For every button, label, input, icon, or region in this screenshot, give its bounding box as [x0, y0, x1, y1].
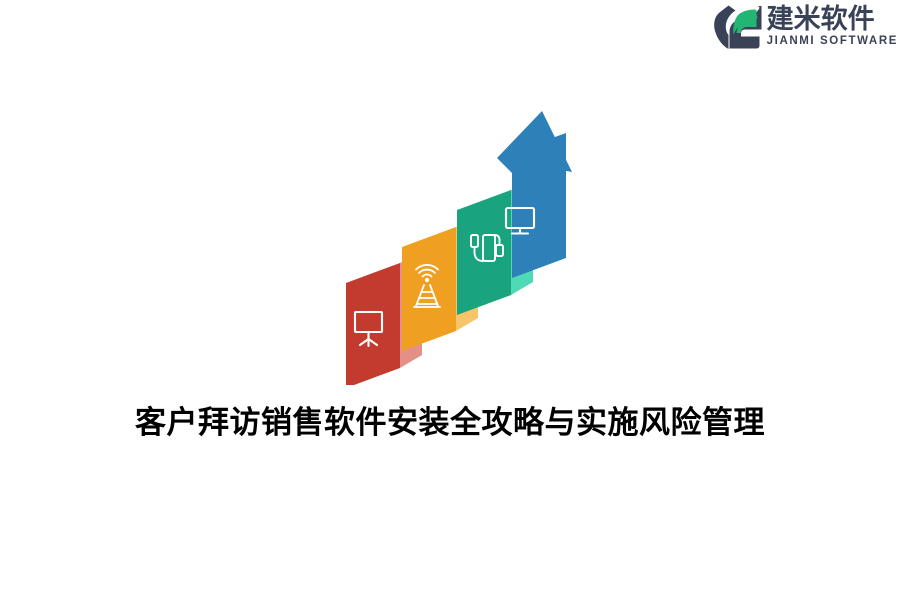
page-title: 客户拜访销售软件安装全攻略与实施风险管理: [0, 400, 900, 446]
page-root: 建米软件 JIANMI SOFTWARE: [0, 0, 900, 600]
brand-text-block: 建米软件 JIANMI SOFTWARE: [767, 4, 898, 50]
bar-orange-face: [402, 227, 456, 351]
jianmi-leaf-logo-icon: [713, 4, 765, 50]
ascending-arrow-bars-graphic: [330, 100, 580, 385]
brand-name-cn: 建米软件: [767, 5, 898, 34]
brand-logo[interactable]: 建米软件 JIANMI SOFTWARE: [713, 2, 898, 52]
arrow-bars-svg: [330, 100, 580, 385]
brand-name-en: JIANMI SOFTWARE: [767, 34, 898, 49]
